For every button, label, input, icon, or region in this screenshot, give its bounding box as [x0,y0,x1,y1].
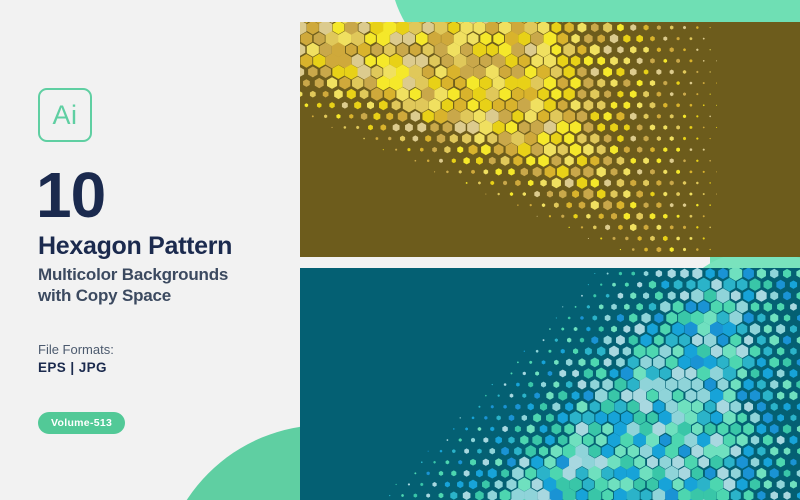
subtitle-line-1: Multicolor Backgrounds [38,265,228,286]
blue-hexagon-panel [300,268,800,500]
info-column: Ai 10 Hexagon Pattern Multicolor Backgro… [36,0,301,500]
pattern-count: 10 [36,163,105,227]
ai-format-icon: Ai [38,88,92,142]
file-formats-value: EPS | JPG [38,360,107,375]
ai-badge-label: Ai [52,100,77,131]
subtitle-line-2: with Copy Space [38,286,228,307]
page-subtitle: Multicolor Backgrounds with Copy Space [38,265,228,306]
blue-hexagon-pattern [300,268,800,500]
volume-badge: Volume-513 [38,412,125,434]
poster-canvas: Ai 10 Hexagon Pattern Multicolor Backgro… [0,0,800,500]
file-formats-label: File Formats: [38,342,114,357]
yellow-hexagon-panel [300,22,800,257]
page-title: Hexagon Pattern [38,234,232,259]
yellow-hexagon-pattern [300,22,800,257]
